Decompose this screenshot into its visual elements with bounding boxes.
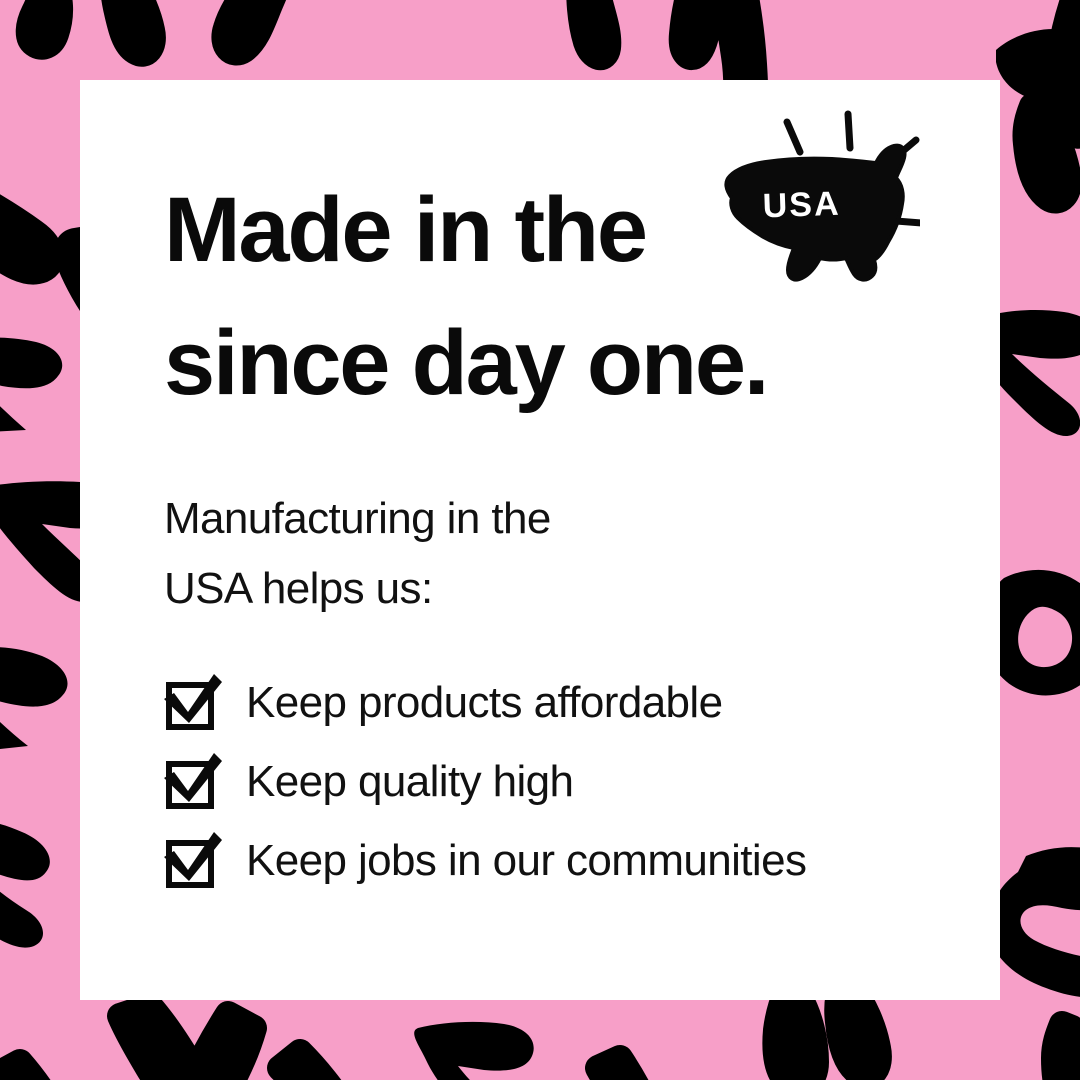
pattern-stroke [775,992,816,1080]
list-item: Keep quality high [162,742,962,821]
subhead-line-2: USA helps us: [164,554,864,624]
pattern-stroke [1025,106,1068,201]
pattern-stroke [1054,1024,1080,1080]
pattern-stroke [224,0,284,53]
ray-top-icon [848,114,850,148]
pattern-stroke [414,1022,534,1080]
list-item: Keep products affordable [162,663,962,742]
checkbox-checked-icon [162,751,224,813]
ray-left-icon [787,122,800,152]
pattern-stroke [280,1052,346,1080]
poster-canvas: Made in the since day one. USA Manufactu… [0,0,1080,1080]
pattern-stroke [120,1006,200,1080]
pattern-stroke [0,819,50,948]
pattern-stroke [0,192,51,272]
pattern-stroke [988,847,1080,997]
pattern-stroke [0,647,68,750]
pattern-stroke [1058,0,1080,136]
benefits-checklist: Keep products affordable Keep quality hi… [162,663,962,900]
usa-badge-label: USA [762,185,841,226]
list-item-label: Keep quality high [246,760,573,804]
pattern-stroke [186,1014,254,1080]
list-item: Keep jobs in our communities [162,821,962,900]
pattern-stroke [0,338,62,433]
pattern-stroke [29,0,60,47]
subhead-line-1: Manufacturing in the [164,484,864,554]
content-card: Made in the since day one. USA Manufactu… [80,80,1000,1000]
pattern-stroke [996,29,1080,103]
usa-map-badge: USA [690,100,920,300]
subhead: Manufacturing in the USA helps us: [164,484,864,623]
checkbox-checked-icon [162,672,224,734]
list-item-label: Keep products affordable [246,681,722,725]
list-item-label: Keep jobs in our communities [246,839,806,883]
pattern-stroke [0,1062,58,1080]
pattern-stroke [1063,0,1080,66]
headline-line-2: since day one. [164,297,924,430]
pattern-stroke [112,0,153,54]
pattern-stroke [579,0,608,57]
checkbox-checked-icon [162,830,224,892]
pattern-stroke [598,1058,652,1080]
